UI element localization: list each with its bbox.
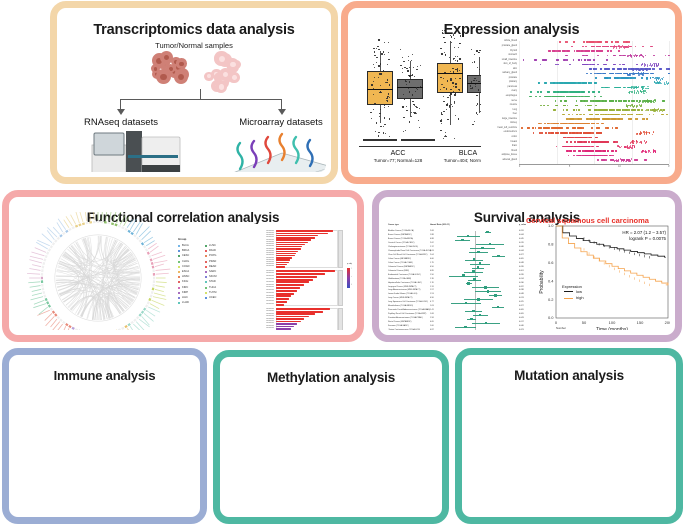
strip-point — [561, 127, 562, 129]
go-bar — [276, 251, 298, 252]
strip-point — [612, 150, 614, 152]
forest-point-estimate — [472, 270, 475, 273]
strip-point — [567, 41, 569, 43]
strip-point — [619, 87, 621, 89]
strip-point — [665, 55, 667, 57]
strip-point — [596, 109, 598, 111]
legend-item-label: PRAD — [209, 260, 216, 263]
forest-row-label: Lung Adenocarcinoma (MSK-IMPACT) — [388, 289, 420, 291]
strip-point — [610, 77, 611, 79]
strip-point — [603, 118, 604, 120]
go-facet-strip — [338, 270, 343, 306]
strip-point — [617, 87, 619, 89]
strip-point-dense — [627, 105, 628, 107]
boxplot-jitter-point — [412, 74, 413, 75]
legend-title: Group — [178, 237, 186, 241]
go-enrichment-barplot: ••••••••••••••••••••••••••••••••••••••••… — [230, 224, 352, 330]
strip-point-dense — [639, 101, 640, 103]
boxplot-jitter-point — [453, 34, 454, 35]
strip-point — [625, 109, 626, 111]
strip-row-label: breast — [481, 141, 517, 143]
strip-point — [586, 100, 587, 102]
strip-point — [590, 82, 592, 84]
boxplot-jitter-point — [374, 51, 375, 52]
strip-point — [577, 137, 579, 139]
go-bar — [276, 308, 330, 310]
strip-point — [622, 55, 624, 57]
forest-p-value: 0.031 — [519, 230, 524, 232]
forest-p-value: 0.039 — [519, 266, 524, 268]
strip-point — [530, 91, 531, 93]
strip-point — [636, 118, 637, 120]
strip-point — [573, 59, 574, 61]
boxplot-jitter-point — [443, 138, 444, 139]
forest-p-value: 0.046 — [519, 325, 524, 327]
boxplot-jitter-point — [374, 55, 375, 56]
strip-point — [573, 96, 576, 98]
strip-point — [568, 155, 569, 157]
strip-point — [642, 46, 644, 48]
strip-point — [535, 127, 537, 129]
boxplot-jitter-point — [442, 32, 443, 33]
strip-point — [521, 127, 523, 129]
go-bar — [276, 257, 292, 258]
boxplot-jitter-point — [457, 60, 458, 61]
legend-item-label: BLCA — [182, 244, 189, 247]
strip-point — [595, 150, 597, 152]
boxplot-box — [367, 71, 393, 105]
chord-group-legend: GroupBLCABRCACESCCHOLCOADESCAHNSCKICHKIR… — [178, 244, 234, 314]
strip-point-dense — [634, 73, 635, 75]
strip-point-dense — [647, 109, 648, 111]
km-risk-title: Number at risk — [556, 326, 566, 330]
strip-point-dense — [625, 46, 626, 48]
go-bar — [276, 293, 294, 295]
go-facet-strip — [338, 308, 343, 330]
strip-point — [589, 68, 591, 70]
forest-p-value: 0.005 — [519, 258, 524, 260]
go-legend-tick: 4e-09 — [352, 276, 353, 278]
strip-point — [585, 123, 587, 125]
boxplot-jitter-point — [405, 130, 406, 131]
forest-hr-value: 1.41 — [430, 309, 434, 311]
forest-column-header: p_value — [519, 224, 526, 226]
km-hr-annotation: HR = 2.07 (1.2 – 3.57) — [584, 230, 666, 235]
forest-p-value: 0.017 — [519, 321, 524, 323]
strip-point — [584, 141, 586, 143]
go-term-label: •••••••••••• — [230, 281, 274, 283]
strip-point — [547, 123, 549, 125]
panel-survival: Survival analysis Cancer typeHazard Rati… — [372, 190, 682, 342]
strip-point — [557, 64, 559, 66]
boxplot-jitter-point — [371, 84, 372, 85]
strip-point — [600, 132, 602, 134]
strip-point — [576, 155, 577, 157]
boxplot-jitter-point — [411, 116, 412, 117]
strip-point — [614, 87, 616, 89]
boxplot-jitter-point — [477, 103, 478, 104]
strip-point — [578, 118, 580, 120]
boxplot-jitter-point — [377, 46, 378, 47]
strip-point-dense — [631, 158, 632, 160]
boxplot-jitter-point — [443, 111, 444, 112]
strip-point — [558, 50, 560, 52]
strip-point — [650, 46, 652, 48]
strip-point — [547, 105, 549, 107]
strip-row-label: colon — [481, 136, 517, 138]
strip-point-dense — [651, 110, 652, 112]
strip-point — [585, 64, 587, 66]
boxplot-jitter-point — [383, 132, 384, 133]
forest-p-value: 0.043 — [519, 317, 524, 319]
strip-point — [575, 105, 577, 107]
panel-immune-inner: Immune analysis — [14, 360, 195, 512]
forest-p-value: 0.027 — [519, 305, 524, 307]
strip-point — [597, 123, 599, 125]
strip-point-dense — [662, 79, 663, 81]
strip-row-label: skin_of_body — [481, 63, 517, 65]
strip-point — [614, 55, 616, 57]
strip-point — [596, 50, 598, 52]
strip-point — [612, 68, 614, 70]
strip-point — [551, 127, 553, 129]
strip-point-dense — [634, 141, 635, 143]
forest-row-label: Breast Cancer (TCGA-BRCA) — [388, 238, 413, 240]
forest-point-estimate — [472, 310, 475, 313]
go-bar — [276, 259, 290, 260]
boxplot-jitter-point — [409, 91, 410, 92]
strip-point — [576, 132, 578, 134]
boxplot-jitter-point — [454, 47, 455, 48]
boxplot-jitter-point — [474, 121, 475, 122]
legend-color-dot — [205, 266, 207, 268]
forest-hr-value: 1.39 — [430, 278, 434, 280]
strip-point — [585, 82, 587, 84]
strip-point — [613, 141, 615, 143]
boxplot-jitter-point — [380, 63, 381, 64]
strip-point — [567, 137, 570, 139]
strip-point — [613, 64, 615, 66]
strip-point — [594, 82, 597, 84]
strip-row-label: lung — [481, 109, 517, 111]
strip-point — [604, 150, 605, 152]
strip-point-dense — [641, 132, 642, 134]
strip-row-label: salivary_gland — [481, 72, 517, 74]
go-bar — [276, 290, 297, 292]
boxplot-jitter-point — [451, 36, 452, 37]
strip-point-dense — [660, 79, 661, 81]
go-bar — [276, 313, 315, 315]
go-legend-tick: 2e-09 — [352, 268, 353, 270]
legend-color-dot — [205, 250, 207, 252]
strip-point-dense — [648, 150, 649, 152]
forest-point-estimate — [485, 322, 488, 325]
strip-point-dense — [634, 105, 635, 107]
strip-point-dense — [641, 64, 642, 66]
strip-point — [597, 100, 598, 102]
boxplot-jitter-point — [459, 78, 460, 79]
forest-hr-value: 0.60 — [430, 258, 434, 260]
go-term-label: •••••••••••• — [230, 300, 274, 302]
strip-point — [649, 114, 650, 116]
strip-point — [615, 127, 617, 129]
strip-point — [593, 59, 595, 61]
forest-hr-value: 0.50 — [430, 266, 434, 268]
strip-point-dense — [663, 109, 664, 111]
go-bar — [276, 279, 313, 281]
strip-point-dense — [642, 86, 643, 88]
strip-row-label: blood — [481, 150, 517, 152]
strip-point — [547, 96, 550, 98]
strip-xtick: 15 — [665, 165, 670, 168]
microarray-chip-icon — [220, 129, 326, 172]
strip-point-dense — [622, 45, 623, 47]
strip-point — [628, 41, 630, 43]
svg-text:1.0: 1.0 — [548, 223, 554, 228]
strip-point — [592, 50, 594, 52]
boxplot-jitter-point — [443, 87, 444, 88]
strip-point — [589, 118, 592, 120]
forest-point-estimate — [461, 239, 464, 242]
forest-hr-value: 1.70 — [430, 282, 434, 284]
boxplot-jitter-point — [389, 118, 390, 119]
strip-point — [601, 87, 604, 89]
forest-row-label: Lower-Grade Glioma (TCGA-LGG) — [388, 293, 417, 295]
go-bar — [276, 318, 304, 320]
strip-point-dense — [657, 77, 658, 79]
boxplot-jitter-point — [383, 70, 384, 71]
forest-row-label: Uterine Carcinosarcoma (TCGA-UCS) — [388, 329, 420, 330]
forest-row-label: Pancreatic Ductal Adenocarcinoma (TCGA-P… — [388, 309, 430, 311]
strip-point — [598, 150, 599, 152]
boxplot-jitter-point — [383, 51, 384, 52]
strip-point — [535, 96, 537, 98]
svg-text:Time (months): Time (months) — [596, 327, 628, 330]
strip-point — [533, 132, 535, 134]
boxplot-jitter-point — [407, 70, 408, 71]
boxplot-jitter-point — [389, 136, 390, 137]
boxplot-jitter-point — [443, 37, 444, 38]
go-bar — [276, 311, 323, 313]
boxplot-jitter-point — [388, 59, 389, 60]
forest-hr-value: 1.31 — [430, 286, 434, 288]
strip-point — [605, 118, 607, 120]
strip-point — [604, 73, 606, 75]
strip-row-label: whole_blood — [481, 40, 517, 42]
strip-point — [582, 64, 585, 66]
strip-point-dense — [625, 147, 626, 149]
legend-item-label: KIRP — [182, 291, 188, 294]
strip-point-dense — [657, 111, 658, 113]
forest-point-estimate — [477, 266, 480, 269]
boxplot-jitter-point — [380, 126, 381, 127]
strip-point — [586, 73, 588, 75]
boxplot-jitter-point — [477, 67, 478, 68]
forest-row-label: Prostate Adenocarcinoma (TCGA-PRAD) — [388, 317, 423, 319]
strip-row-label: ovary — [481, 90, 517, 92]
strip-point-dense — [661, 83, 662, 85]
strip-point-dense — [646, 69, 647, 71]
go-bar — [276, 244, 305, 245]
svg-text:50: 50 — [582, 320, 587, 325]
strip-point-dense — [619, 147, 620, 149]
svg-text:0.0: 0.0 — [548, 315, 554, 320]
strip-point — [566, 141, 569, 143]
strip-point-dense — [645, 142, 646, 144]
boxplot-jitter-point — [378, 132, 379, 133]
strip-point — [568, 114, 570, 116]
strip-point — [563, 82, 565, 84]
strip-point — [574, 50, 576, 52]
boxplot-jitter-point — [376, 48, 377, 49]
sequencer-icon — [84, 131, 194, 172]
strip-point — [612, 155, 614, 157]
legend-item-label: THYM — [209, 291, 216, 294]
strip-point — [555, 127, 558, 129]
strip-point — [598, 91, 600, 93]
strip-point — [540, 64, 542, 66]
boxplot-jitter-point — [376, 62, 377, 63]
strip-point — [608, 68, 610, 70]
strip-point-dense — [613, 47, 614, 49]
legend-color-dot — [178, 250, 180, 252]
strip-point — [645, 55, 646, 57]
forest-row-label: Rectal Cancer (METABRIC) — [388, 321, 411, 323]
forest-p-value: 0.023 — [519, 329, 524, 330]
strip-point — [570, 146, 573, 148]
legend-color-dot — [178, 276, 180, 278]
forest-p-value: 0.001 — [519, 270, 524, 272]
strip-point — [592, 132, 594, 134]
go-facet-strip — [338, 230, 343, 268]
boxplot-jitter-point — [402, 106, 403, 107]
boxplot-jitter-point — [447, 80, 448, 81]
strip-point — [534, 59, 537, 61]
forest-hr-value: 2.04 — [430, 254, 434, 256]
strip-point-dense — [663, 77, 664, 79]
boxplot-jitter-point — [384, 54, 385, 55]
forest-point-estimate — [479, 314, 482, 317]
strip-point — [593, 118, 594, 120]
strip-point — [538, 82, 539, 84]
forest-plot: Cancer typeHazard Ratio (95% CI)p_valueB… — [388, 224, 538, 330]
strip-point-dense — [629, 46, 630, 48]
strip-point — [533, 127, 534, 129]
strip-point-dense — [629, 73, 630, 75]
forest-hr-value: 0.87 — [430, 329, 434, 330]
strip-point — [666, 114, 668, 116]
strip-point — [636, 64, 638, 66]
strip-point — [591, 127, 594, 129]
legend-item-label: ESCA — [182, 270, 189, 273]
strip-point — [562, 50, 565, 52]
strip-point — [618, 50, 619, 52]
legend-item-label: COAD — [182, 265, 190, 268]
strip-point — [609, 155, 610, 157]
strip-point — [591, 50, 593, 52]
forest-p-value: 0.030 — [519, 282, 524, 284]
strip-point — [566, 59, 568, 61]
legend-color-dot — [178, 297, 180, 299]
strip-point — [583, 114, 585, 116]
strip-point-dense — [644, 65, 645, 67]
forest-row-label: Hepatocellular Carcinoma (TCGA-LIHC) — [388, 282, 422, 284]
boxplot-jitter-point — [444, 42, 445, 43]
boxplot-jitter-point — [440, 130, 441, 131]
forest-p-value: 0.009 — [519, 313, 524, 315]
strip-point — [595, 68, 597, 70]
strip-point — [628, 100, 630, 102]
strip-point — [588, 109, 591, 111]
forest-column-header: Cancer type — [388, 224, 399, 226]
cell-nucleus — [230, 62, 236, 68]
boxplot-jitter-point — [403, 117, 404, 118]
strip-point — [592, 91, 594, 93]
strip-point — [595, 77, 597, 79]
strip-point-dense — [643, 72, 644, 74]
forest-row-label: Chromophobe Renal Cell Carcinoma (TCGA-K… — [388, 250, 431, 252]
boxplot-jitter-point — [387, 96, 388, 97]
strip-point — [598, 73, 601, 75]
strip-point-dense — [658, 108, 659, 110]
forest-point-estimate — [494, 294, 497, 297]
legend-color-dot — [205, 276, 207, 278]
strip-point-dense — [654, 81, 655, 83]
forest-row-label: Glioblastoma (TCGA-GBM) — [388, 278, 411, 280]
forest-point-estimate — [467, 235, 470, 238]
strip-point — [564, 123, 567, 125]
forest-point-estimate — [486, 231, 489, 234]
boxplot-jitter-point — [413, 67, 414, 68]
forest-point-estimate — [487, 290, 490, 293]
strip-point — [607, 114, 609, 116]
forest-row-label: Sarcoma (TCGA-SARC) — [388, 325, 408, 327]
boxplot-jitter-point — [458, 47, 459, 48]
boxplot-jitter-point — [378, 135, 379, 136]
strip-point-dense — [642, 55, 643, 57]
panel-survival-inner: Survival analysis Cancer typeHazard Rati… — [384, 202, 670, 330]
strip-point-dense — [648, 109, 649, 111]
strip-point — [580, 141, 582, 143]
strip-point-dense — [628, 56, 629, 58]
strip-point — [582, 127, 584, 129]
strip-row-label: esophagus — [481, 95, 517, 97]
go-bar — [276, 266, 285, 267]
boxplot-jitter-point — [472, 87, 473, 88]
boxplot-jitter-point — [447, 119, 448, 120]
mutation-title: Mutation analysis — [467, 368, 671, 383]
strip-row-label: prostate — [481, 77, 517, 79]
boxplot-jitter-point — [404, 98, 405, 99]
strip-point-dense — [645, 88, 646, 90]
forest-column-header: Hazard Ratio (95% CI) — [430, 224, 450, 226]
strip-point-dense — [655, 151, 656, 153]
strip-row-label: adrenal_gland — [481, 159, 517, 161]
panel-mutation: Mutation analysis — [455, 348, 683, 524]
boxplot-jitter-point — [444, 30, 445, 31]
go-term-label: •••••••••••• — [230, 278, 274, 280]
boxplot-jitter-point — [384, 107, 385, 108]
strip-point — [587, 105, 589, 107]
strip-point-dense — [628, 47, 629, 49]
strip-point-dense — [636, 87, 637, 89]
strip-point — [617, 114, 619, 116]
boxplot-jitter-point — [376, 122, 377, 123]
forest-hr-value: 1.03 — [430, 305, 434, 307]
svg-text:0.2: 0.2 — [548, 297, 554, 302]
strip-point — [607, 68, 609, 70]
strip-point — [590, 41, 592, 43]
